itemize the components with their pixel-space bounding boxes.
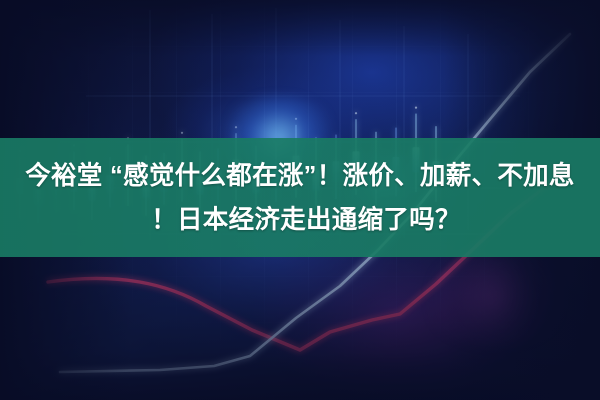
headline-line-1: 今裕堂 “感觉什么都在涨”！涨价、加薪、不加息 [25, 156, 575, 196]
headline-line-2: ！日本经济走出通缩了吗？ [139, 200, 461, 240]
thumbnail-banner-image: 今裕堂 “感觉什么都在涨”！涨价、加薪、不加息 ！日本经济走出通缩了吗？ [0, 0, 600, 400]
headline-banner: 今裕堂 “感觉什么都在涨”！涨价、加薪、不加息 ！日本经济走出通缩了吗？ [0, 138, 600, 257]
headline-text-block: 今裕堂 “感觉什么都在涨”！涨价、加薪、不加息 ！日本经济走出通缩了吗？ [0, 138, 600, 257]
